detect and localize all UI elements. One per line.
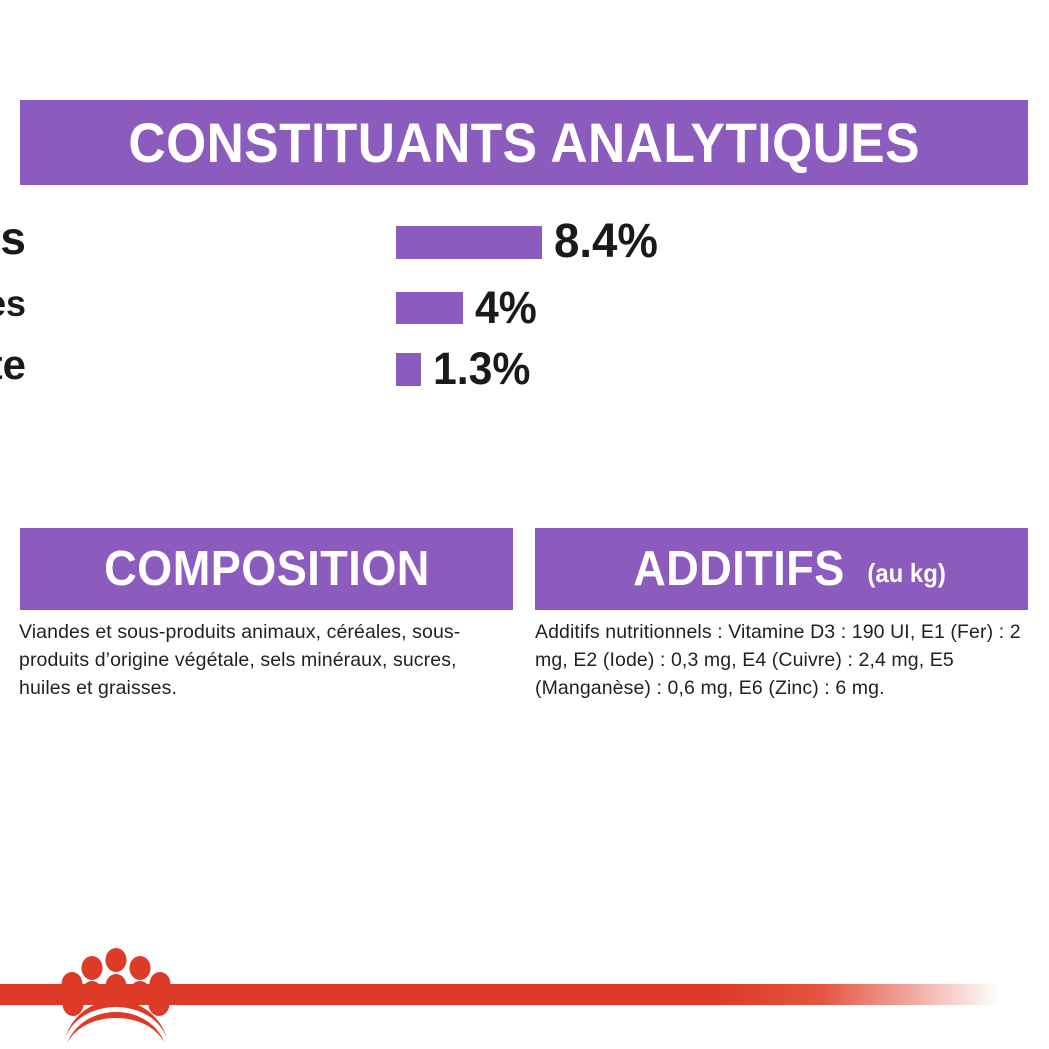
chart-bar-value: 4% [475, 284, 537, 332]
analytical-constituents-title: CONSTITUANTS ANALYTIQUES [128, 115, 920, 171]
composition-title: COMPOSITION [104, 545, 430, 594]
chart-bar-value: 1.3% [433, 345, 530, 393]
composition-banner: COMPOSITION [20, 528, 513, 610]
chart-row-label: Cellulose brute [0, 342, 26, 388]
chart-row-label: Protéines [0, 213, 26, 263]
chart-row-label: Matières grasses brutes [0, 284, 26, 324]
analytical-constituents-banner: CONSTITUANTS ANALYTIQUES [20, 100, 1028, 185]
chart-bar [396, 226, 542, 259]
chart-row-bar-group: 4% [396, 277, 540, 338]
chart-bar [396, 353, 421, 386]
chart-bar-value: 8.4% [554, 218, 658, 266]
additives-subtitle: (au kg) [867, 560, 945, 586]
chart-row-matieres-grasses-brutes: Matières grasses brutes 4% [0, 277, 720, 338]
chart-row-bar-group: 1.3% [396, 338, 536, 400]
additives-banner: ADDITIFS (au kg) [535, 528, 1028, 610]
composition-text: Viandes et sous-produits animaux, céréal… [19, 618, 513, 702]
chart-row-bar-group: 8.4% [396, 207, 663, 277]
chart-bar [396, 292, 463, 324]
additives-text: Additifs nutritionnels : Vitamine D3 : 1… [535, 618, 1035, 702]
additives-title: ADDITIFS [633, 545, 845, 594]
chart-row-proteines: Protéines 8.4% [0, 207, 720, 277]
royal-canin-crown-logo [61, 946, 171, 1044]
analytical-constituents-chart: Protéines 8.4% Matières grasses brutes 4… [0, 207, 720, 400]
chart-row-cellulose-brute: Cellulose brute 1.3% [0, 338, 720, 400]
